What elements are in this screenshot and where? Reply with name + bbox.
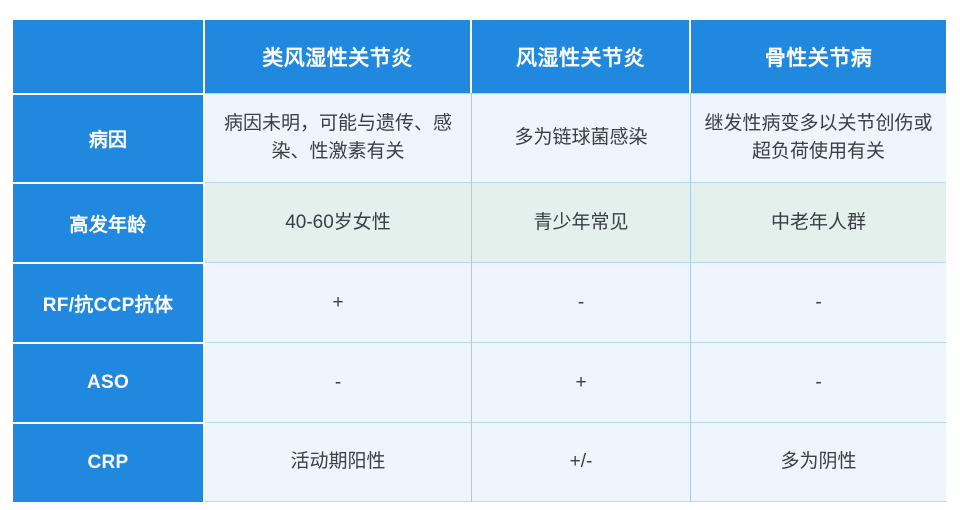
cell-age-osteoarthritis: 中老年人群 bbox=[691, 182, 946, 262]
table-row: RF/抗CCP抗体 + - - bbox=[13, 262, 946, 342]
cell-crp-rheumatic: +/- bbox=[472, 422, 691, 502]
cell-aso-osteoarthritis: - bbox=[691, 342, 946, 422]
row-label-aso: ASO bbox=[13, 342, 205, 422]
cell-aso-rheumatoid: - bbox=[205, 342, 472, 422]
row-label-crp: CRP bbox=[13, 422, 205, 502]
cell-rf-rheumatoid: + bbox=[205, 262, 472, 342]
table-corner-cell bbox=[13, 20, 205, 93]
cell-cause-osteoarthritis: 继发性病变多以关节创伤或超负荷使用有关 bbox=[691, 93, 946, 182]
table-row: ASO - + - bbox=[13, 342, 946, 422]
table-row: 病因 病因未明，可能与遗传、感染、性激素有关 多为链球菌感染 继发性病变多以关节… bbox=[13, 93, 946, 182]
column-header-rheumatic-arthritis: 风湿性关节炎 bbox=[472, 20, 691, 93]
column-header-osteoarthritis: 骨性关节病 bbox=[691, 20, 946, 93]
table-row: CRP 活动期阳性 +/- 多为阴性 bbox=[13, 422, 946, 502]
cell-age-rheumatoid: 40-60岁女性 bbox=[205, 182, 472, 262]
cell-age-rheumatic: 青少年常见 bbox=[472, 182, 691, 262]
cell-crp-osteoarthritis: 多为阴性 bbox=[691, 422, 946, 502]
arthritis-comparison-table: 类风湿性关节炎 风湿性关节炎 骨性关节病 病因 病因未明，可能与遗传、感染、性激… bbox=[13, 20, 946, 502]
cell-cause-rheumatic: 多为链球菌感染 bbox=[472, 93, 691, 182]
cell-aso-rheumatic: + bbox=[472, 342, 691, 422]
cell-rf-osteoarthritis: - bbox=[691, 262, 946, 342]
row-label-rf-anti-ccp: RF/抗CCP抗体 bbox=[13, 262, 205, 342]
cell-cause-rheumatoid: 病因未明，可能与遗传、感染、性激素有关 bbox=[205, 93, 472, 182]
row-label-cause: 病因 bbox=[13, 93, 205, 182]
table-header-row: 类风湿性关节炎 风湿性关节炎 骨性关节病 bbox=[13, 20, 946, 93]
cell-crp-rheumatoid: 活动期阳性 bbox=[205, 422, 472, 502]
column-header-rheumatoid-arthritis: 类风湿性关节炎 bbox=[205, 20, 472, 93]
table-body: 病因 病因未明，可能与遗传、感染、性激素有关 多为链球菌感染 继发性病变多以关节… bbox=[13, 93, 946, 502]
comparison-table-container: 类风湿性关节炎 风湿性关节炎 骨性关节病 病因 病因未明，可能与遗传、感染、性激… bbox=[13, 20, 946, 497]
cell-rf-rheumatic: - bbox=[472, 262, 691, 342]
row-label-peak-age: 高发年龄 bbox=[13, 182, 205, 262]
table-header: 类风湿性关节炎 风湿性关节炎 骨性关节病 bbox=[13, 20, 946, 93]
table-row: 高发年龄 40-60岁女性 青少年常见 中老年人群 bbox=[13, 182, 946, 262]
